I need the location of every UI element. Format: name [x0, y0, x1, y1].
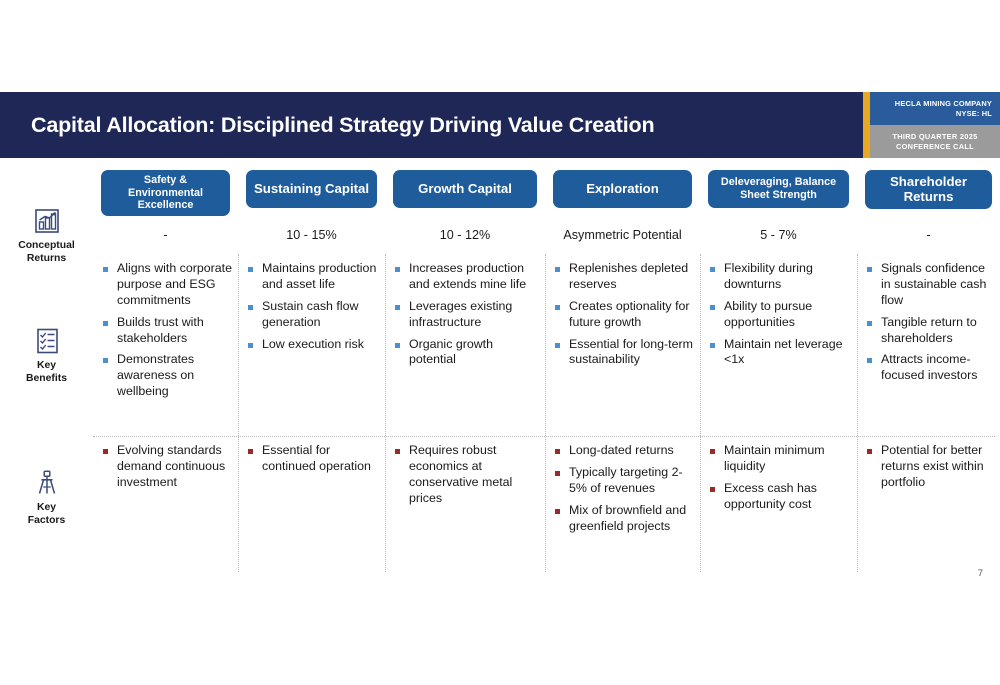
key-factors-list: Evolving standards demand continuous inv… — [103, 443, 232, 497]
quarter-badge: THIRD QUARTER 2025 CONFERENCE CALL — [870, 125, 1000, 158]
key-benefits-list: Signals confidence in sustainable cash f… — [867, 261, 994, 390]
list-item: Essential for continued operation — [248, 443, 379, 475]
row-label-conceptual-returns: Conceptual Returns — [0, 206, 93, 265]
column-divider — [700, 254, 701, 572]
conceptual-return-value: - — [857, 228, 1000, 242]
pillar-column-exploration: Exploration Asymmetric Potential Repleni… — [545, 158, 700, 578]
conceptual-return-value: - — [93, 228, 238, 242]
column-divider — [385, 254, 386, 572]
list-item: Flexibility during downturns — [710, 261, 851, 293]
pillar-chip[interactable]: Safety & Environmental Excellence — [101, 170, 230, 216]
row-label-text: Key Benefits — [0, 360, 93, 385]
list-item: Mix of brownfield and greenfield project… — [555, 503, 694, 535]
row-label-key-factors: Key Factors — [0, 468, 93, 527]
key-factors-list: Requires robust economics at conservativ… — [395, 443, 539, 513]
row-label-line1: Key — [0, 360, 93, 373]
key-factors-list: Potential for better returns exist withi… — [867, 443, 994, 497]
company-name: HECLA MINING COMPANY — [895, 99, 992, 109]
row-label-text: Key Factors — [0, 502, 93, 527]
row-label-rail: Conceptual Returns Key Benefits — [0, 158, 93, 578]
list-item: Long-dated returns — [555, 443, 694, 459]
row-label-key-benefits: Key Benefits — [0, 326, 93, 385]
row-label-line2: Factors — [0, 515, 93, 528]
list-item: Maintain net leverage <1x — [710, 337, 851, 369]
conceptual-return-value: 10 - 12% — [385, 228, 545, 242]
row-label-line2: Benefits — [0, 373, 93, 386]
pillar-column-shareholder-returns: Shareholder Returns - Signals confidence… — [857, 158, 1000, 578]
conceptual-return-value: Asymmetric Potential — [545, 228, 700, 242]
title-accent-stripe — [863, 92, 870, 158]
key-benefits-list: Aligns with corporate purpose and ESG co… — [103, 261, 232, 406]
column-divider — [545, 254, 546, 572]
list-item: Increases production and extends mine li… — [395, 261, 539, 293]
pillar-column-safety-environmental-excellence: Safety & Environmental Excellence - Alig… — [93, 158, 238, 578]
row-divider — [93, 436, 995, 437]
pillar-column-growth-capital: Growth Capital 10 - 12% Increases produc… — [385, 158, 545, 578]
key-benefits-list: Increases production and extends mine li… — [395, 261, 539, 374]
key-benefits-list: Flexibility during downturns Ability to … — [710, 261, 851, 374]
list-item: Typically targeting 2-5% of revenues — [555, 465, 694, 497]
list-item: Replenishes depleted reserves — [555, 261, 694, 293]
pillar-chip[interactable]: Growth Capital — [393, 170, 537, 208]
key-benefits-list: Replenishes depleted reserves Creates op… — [555, 261, 694, 374]
list-item: Evolving standards demand continuous inv… — [103, 443, 232, 491]
bar-chart-growth-icon — [0, 206, 93, 236]
list-item: Low execution risk — [248, 337, 379, 353]
list-item: Demonstrates awareness on wellbeing — [103, 352, 232, 400]
column-divider — [857, 254, 858, 572]
key-factors-list: Maintain minimum liquidity Excess cash h… — [710, 443, 851, 519]
key-factors-list: Essential for continued operation — [248, 443, 379, 481]
list-item: Potential for better returns exist withi… — [867, 443, 994, 491]
quarter-label: THIRD QUARTER 2025 — [892, 132, 977, 142]
pillar-chip[interactable]: Shareholder Returns — [865, 170, 992, 209]
row-label-text: Conceptual Returns — [0, 240, 93, 265]
row-label-line2: Returns — [0, 253, 93, 266]
capital-allocation-grid: Conceptual Returns Key Benefits — [0, 158, 1000, 578]
column-divider — [238, 254, 239, 572]
list-item: Signals confidence in sustainable cash f… — [867, 261, 994, 309]
ticker-symbol: NYSE: HL — [956, 109, 992, 119]
list-item: Organic growth potential — [395, 337, 539, 369]
list-item: Maintain minimum liquidity — [710, 443, 851, 475]
list-item: Excess cash has opportunity cost — [710, 481, 851, 513]
pillar-column-deleveraging-balance-sheet-strength: Deleveraging, Balance Sheet Strength 5 -… — [700, 158, 857, 578]
key-benefits-list: Maintains production and asset life Sust… — [248, 261, 379, 358]
company-badge: HECLA MINING COMPANY NYSE: HL — [870, 92, 1000, 125]
list-item: Maintains production and asset life — [248, 261, 379, 293]
pillar-chip[interactable]: Exploration — [553, 170, 692, 208]
list-item: Tangible return to shareholders — [867, 315, 994, 347]
list-item: Attracts income-focused investors — [867, 352, 994, 384]
checklist-icon — [0, 326, 93, 356]
list-item: Aligns with corporate purpose and ESG co… — [103, 261, 232, 309]
list-item: Creates optionality for future growth — [555, 299, 694, 331]
slide-title-bar: Capital Allocation: Disciplined Strategy… — [0, 92, 1000, 158]
conceptual-return-value: 5 - 7% — [700, 228, 857, 242]
corner-badges: HECLA MINING COMPANY NYSE: HL THIRD QUAR… — [870, 92, 1000, 158]
key-factors-list: Long-dated returns Typically targeting 2… — [555, 443, 694, 540]
page-title: Capital Allocation: Disciplined Strategy… — [0, 92, 863, 158]
list-item: Ability to pursue opportunities — [710, 299, 851, 331]
list-item: Leverages existing infrastructure — [395, 299, 539, 331]
row-label-line1: Conceptual — [0, 240, 93, 253]
call-label: CONFERENCE CALL — [896, 142, 974, 152]
pillar-chip[interactable]: Deleveraging, Balance Sheet Strength — [708, 170, 849, 208]
list-item: Builds trust with stakeholders — [103, 315, 232, 347]
conceptual-return-value: 10 - 15% — [238, 228, 385, 242]
list-item: Sustain cash flow generation — [248, 299, 379, 331]
pillar-column-sustaining-capital: Sustaining Capital 10 - 15% Maintains pr… — [238, 158, 385, 578]
pillar-chip[interactable]: Sustaining Capital — [246, 170, 377, 208]
list-item: Requires robust economics at conservativ… — [395, 443, 539, 507]
pillar-columns: Safety & Environmental Excellence - Alig… — [93, 158, 1000, 578]
page-number: 7 — [978, 568, 983, 579]
list-item: Essential for long-term sustainability — [555, 337, 694, 369]
row-label-line1: Key — [0, 502, 93, 515]
survey-tripod-icon — [0, 468, 93, 498]
